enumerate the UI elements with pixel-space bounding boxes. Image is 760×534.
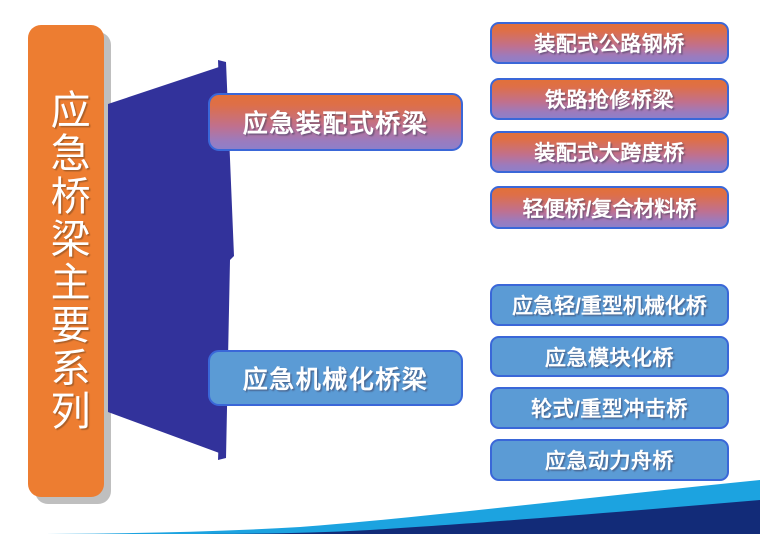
leaf-node-railway-repair-bridge[interactable]: 铁路抢修桥梁 xyxy=(490,78,729,120)
leaf-node-label: 装配式公路钢桥 xyxy=(534,28,685,58)
leaf-node-powered-pontoon-bridge[interactable]: 应急动力舟桥 xyxy=(490,439,729,481)
bottom-wave-decoration xyxy=(0,474,760,534)
leaf-node-label: 应急模块化桥 xyxy=(545,342,674,372)
leaf-node-label: 铁路抢修桥梁 xyxy=(545,84,674,114)
branch-node-label: 应急装配式桥梁 xyxy=(243,104,429,140)
slide-canvas: 应急桥梁主要系列 应急装配式桥梁 应急机械化桥梁 装配式公路钢桥 铁路抢修桥梁 … xyxy=(0,0,760,534)
leaf-node-modular-bridge[interactable]: 应急模块化桥 xyxy=(490,336,729,377)
leaf-node-long-span-bridge[interactable]: 装配式大跨度桥 xyxy=(490,131,729,173)
leaf-node-wheeled-heavy-assault-bridge[interactable]: 轮式/重型冲击桥 xyxy=(490,387,729,429)
leaf-node-highway-steel-bridge[interactable]: 装配式公路钢桥 xyxy=(490,22,729,64)
branch-node-prefabricated-bridge[interactable]: 应急装配式桥梁 xyxy=(208,93,463,151)
leaf-node-label: 轮式/重型冲击桥 xyxy=(531,393,688,423)
leaf-node-label: 应急轻/重型机械化桥 xyxy=(512,290,707,320)
leaf-node-light-heavy-mechanized-bridge[interactable]: 应急轻/重型机械化桥 xyxy=(490,284,729,326)
branch-node-mechanized-bridge[interactable]: 应急机械化桥梁 xyxy=(208,350,463,406)
leaf-node-label: 装配式大跨度桥 xyxy=(534,137,685,167)
root-box-emergency-bridge-series[interactable]: 应急桥梁主要系列 xyxy=(28,25,104,497)
leaf-node-label: 轻便桥/复合材料桥 xyxy=(523,193,697,223)
leaf-node-label: 应急动力舟桥 xyxy=(545,445,674,475)
leaf-node-lightweight-composite-bridge[interactable]: 轻便桥/复合材料桥 xyxy=(490,186,729,229)
root-box-label: 应急桥梁主要系列 xyxy=(44,89,87,433)
branch-node-label: 应急机械化桥梁 xyxy=(243,360,429,396)
